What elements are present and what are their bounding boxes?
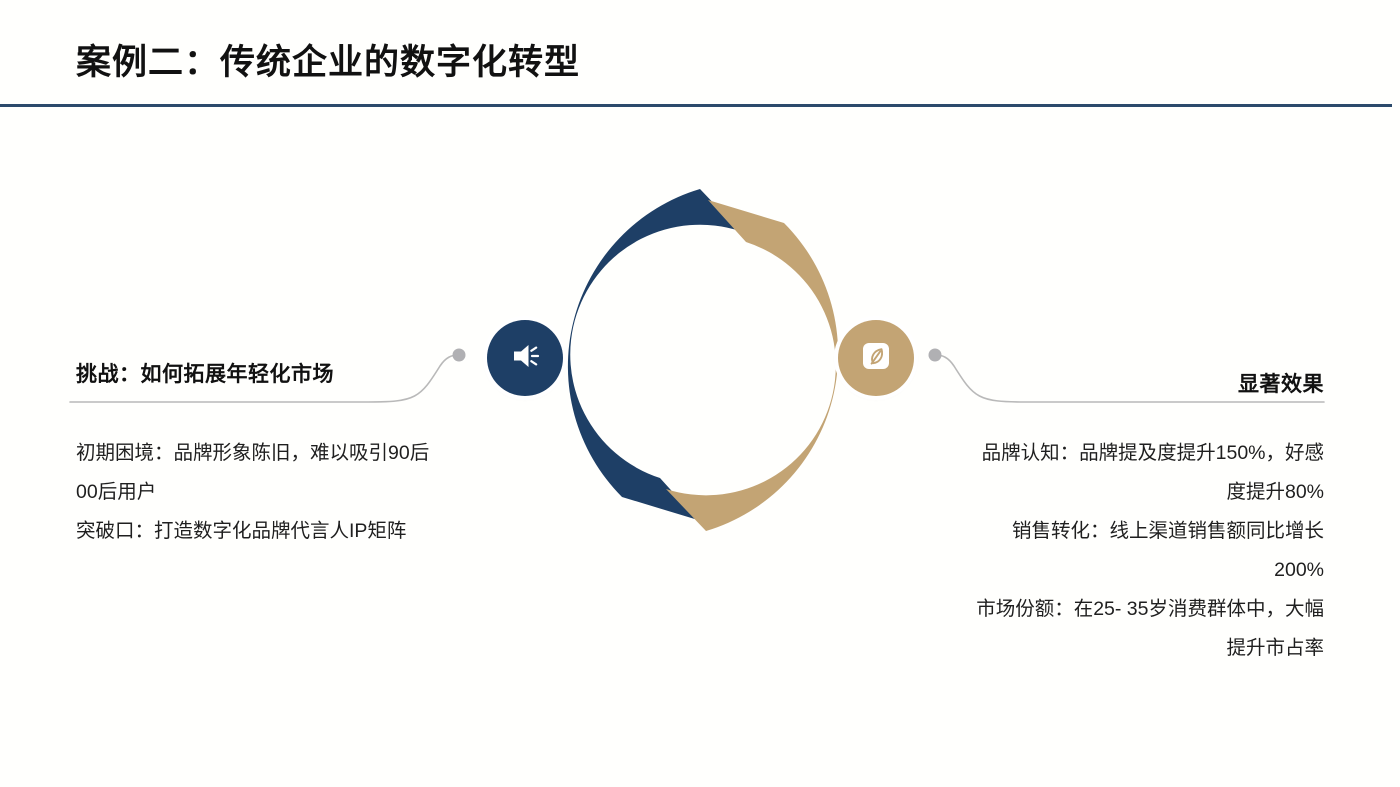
badge-challenge[interactable] bbox=[487, 320, 563, 396]
slide-header: 案例二：传统企业的数字化转型 bbox=[0, 0, 1400, 106]
challenge-line: 突破口：打造数字化品牌代言人IP矩阵 bbox=[76, 512, 456, 551]
result-body: 品牌认知：品牌提及度提升150%，好感 度提升80% 销售转化：线上渠道销售额同… bbox=[944, 434, 1324, 668]
panel-result: 显著效果 品牌认知：品牌提及度提升150%，好感 度提升80% 销售转化：线上渠… bbox=[944, 368, 1324, 668]
result-line: 提升市占率 bbox=[944, 629, 1324, 668]
challenge-line: 初期困境：品牌形象陈旧，难以吸引90后 bbox=[76, 434, 456, 473]
result-line: 200% bbox=[944, 551, 1324, 590]
challenge-line: 00后用户 bbox=[76, 473, 456, 512]
challenge-heading: 挑战：如何拓展年轻化市场 bbox=[76, 358, 456, 388]
result-line: 度提升80% bbox=[944, 473, 1324, 512]
page-title: 案例二：传统企业的数字化转型 bbox=[76, 34, 580, 85]
megaphone-icon bbox=[507, 338, 543, 379]
leaf-pen-icon bbox=[858, 338, 894, 379]
challenge-body: 初期困境：品牌形象陈旧，难以吸引90后 00后用户 突破口：打造数字化品牌代言人… bbox=[76, 434, 456, 551]
result-line: 销售转化：线上渠道销售额同比增长 bbox=[944, 512, 1324, 551]
result-line: 品牌认知：品牌提及度提升150%，好感 bbox=[944, 434, 1324, 473]
cycle-arc-left bbox=[568, 189, 740, 520]
result-line: 市场份额：在25- 35岁消费群体中，大幅 bbox=[944, 590, 1324, 629]
panel-challenge: 挑战：如何拓展年轻化市场 初期困境：品牌形象陈旧，难以吸引90后 00后用户 突… bbox=[76, 358, 456, 551]
badge-result[interactable] bbox=[838, 320, 914, 396]
cycle-arc-right bbox=[666, 200, 838, 531]
result-heading: 显著效果 bbox=[944, 368, 1324, 398]
header-divider bbox=[0, 104, 1392, 107]
